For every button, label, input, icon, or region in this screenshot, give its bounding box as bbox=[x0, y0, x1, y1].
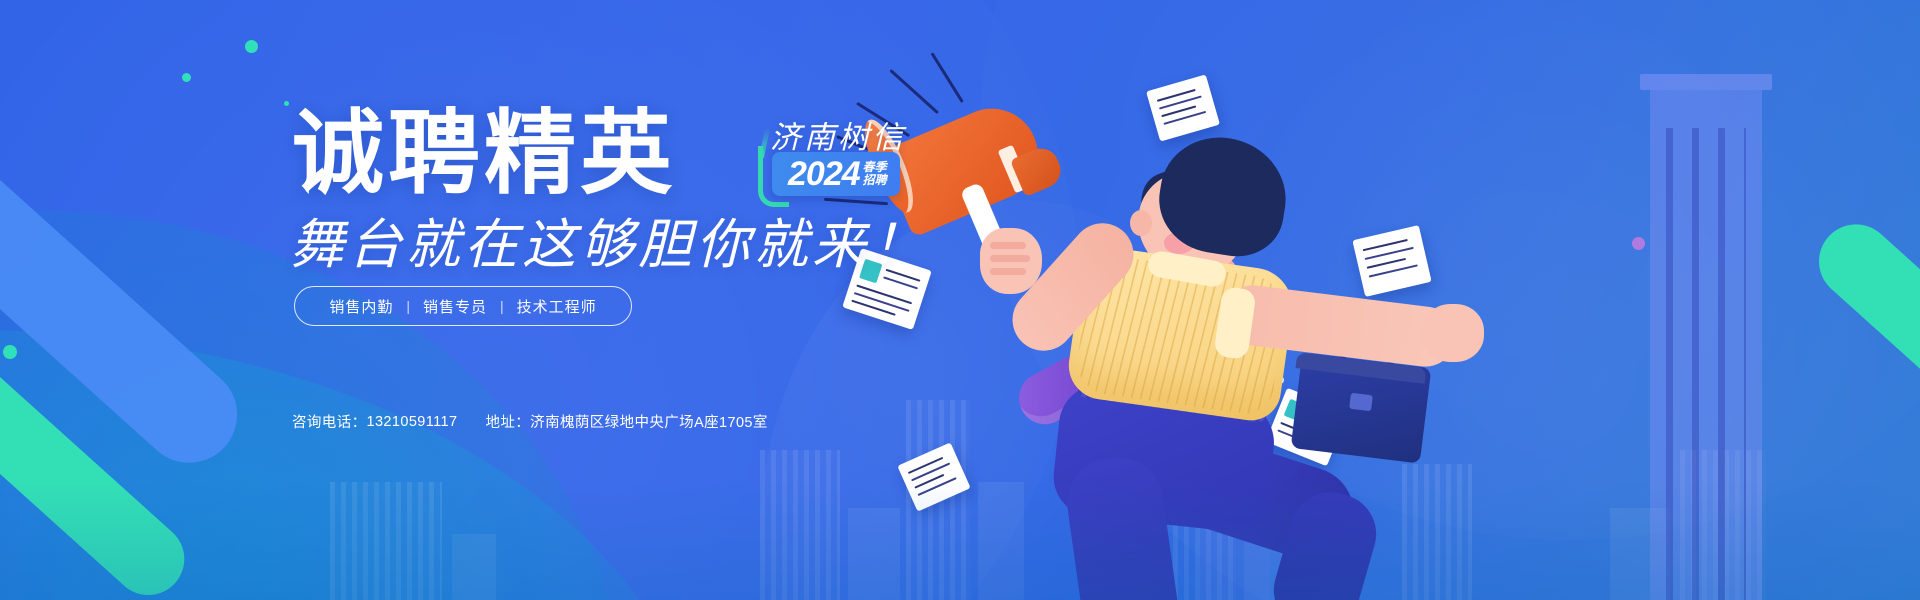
tag-separator: | bbox=[500, 298, 504, 314]
character-hand-outstretched bbox=[1422, 304, 1484, 362]
character-ear bbox=[1130, 210, 1152, 236]
address-label: 地址： bbox=[485, 411, 530, 432]
building-cap bbox=[1640, 74, 1772, 90]
decorative-dot-purple bbox=[1632, 237, 1645, 250]
page-title: 诚聘精英 bbox=[292, 108, 676, 200]
badge-season: 春季 招聘 bbox=[863, 161, 887, 187]
tag-separator: | bbox=[406, 298, 410, 314]
briefcase-clasp bbox=[1349, 393, 1373, 412]
job-tag-0[interactable]: 销售内勤 bbox=[329, 296, 393, 317]
phone-value: 13210591117 bbox=[367, 414, 458, 430]
job-tag-1[interactable]: 销售专员 bbox=[423, 296, 487, 317]
contact-info: 咨询电话： 13210591117 地址： 济南槐荫区绿地中央广场A座1705室 bbox=[292, 411, 768, 432]
subtitle: 舞台就在这够胆你就来！ bbox=[290, 200, 928, 279]
badge-year: 2024 bbox=[788, 157, 860, 191]
banner-copy: 诚聘精英 济南树信 2024 春季 招聘 舞台就在这够胆你就来！ 销售内勤 | … bbox=[0, 0, 1000, 600]
job-tags-pill: 销售内勤 | 销售专员 | 技术工程师 bbox=[294, 286, 632, 326]
badge-season-line2: 招聘 bbox=[863, 174, 887, 187]
recruitment-banner: 诚聘精英 济南树信 2024 春季 招聘 舞台就在这够胆你就来！ 销售内勤 | … bbox=[0, 0, 1920, 600]
company-name: 济南树信 bbox=[770, 112, 906, 157]
phone-label: 咨询电话： bbox=[292, 411, 367, 432]
address-value: 济南槐荫区绿地中央广场A座1705室 bbox=[530, 411, 768, 432]
decorative-bar-teal-right bbox=[1804, 209, 1920, 465]
year-badge: 2024 春季 招聘 bbox=[772, 152, 900, 196]
job-tag-2[interactable]: 技术工程师 bbox=[517, 296, 597, 317]
